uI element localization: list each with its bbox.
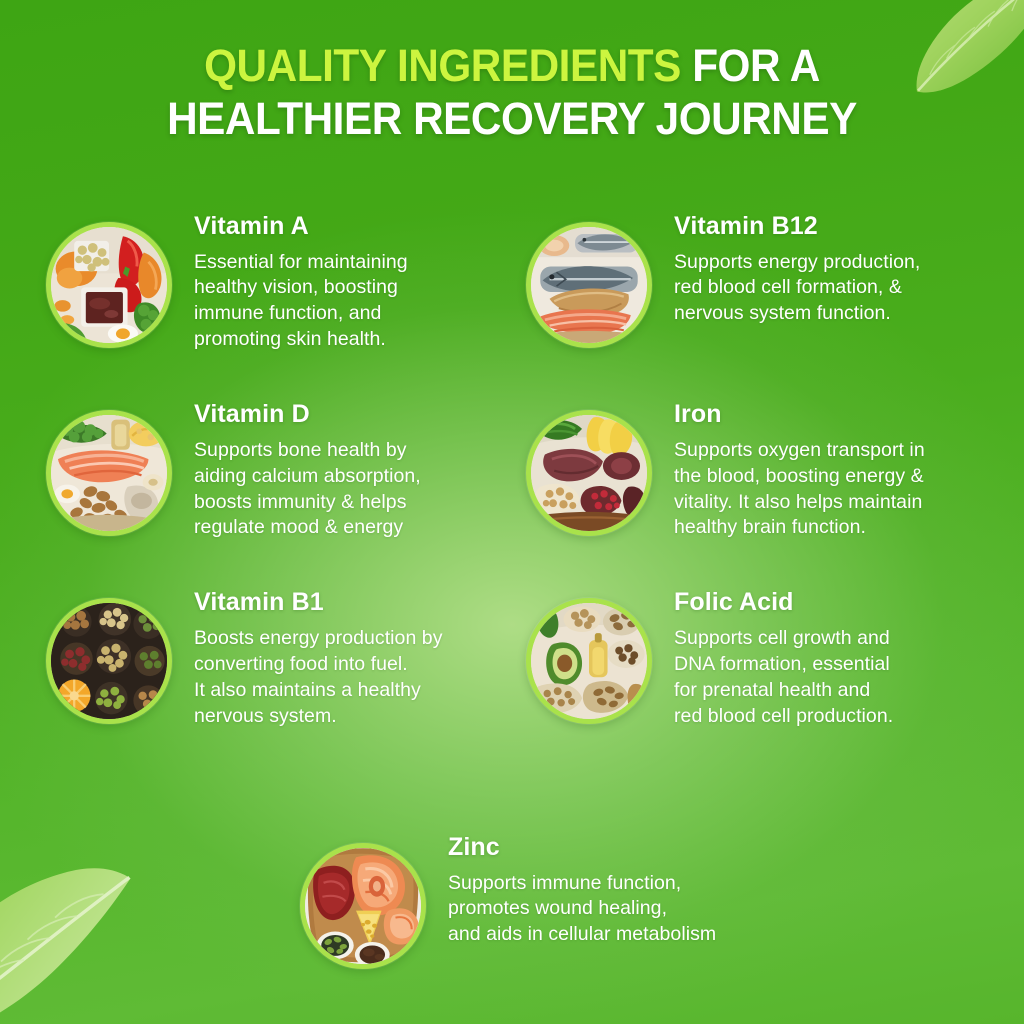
title-line-1-rest: FOR A — [681, 40, 820, 91]
ingredient-thumbnail-vitamin-d — [46, 410, 172, 536]
ingredient-text-zinc: Zinc Supports immune function, promotes … — [426, 826, 716, 948]
ingredient-text-vitamin-d: Vitamin D Supports bone health by aiding… — [172, 393, 421, 541]
ingredient-thumbnail-vitamin-a — [46, 222, 172, 348]
ingredient-description: Supports immune function, promotes wound… — [448, 871, 716, 949]
ingredients-row: Vitamin A Essential for maintaining heal… — [34, 205, 1024, 353]
ingredient-name: Folic Acid — [674, 589, 893, 617]
ingredient-name: Vitamin D — [194, 401, 421, 429]
ingredients-row: Vitamin B1 Boosts energy production by c… — [34, 581, 1024, 729]
ingredient-name: Vitamin B1 — [194, 589, 443, 617]
ingredient-card-vitamin-d[interactable]: Vitamin D Supports bone health by aiding… — [34, 393, 524, 541]
title-line-1: QUALITY INGREDIENTS FOR A — [31, 40, 994, 93]
ingredients-grid: Vitamin A Essential for maintaining heal… — [34, 205, 1024, 730]
ingredient-description: Supports bone health by aiding calcium a… — [194, 438, 421, 542]
title-highlight: QUALITY INGREDIENTS — [204, 40, 681, 91]
ingredient-name: Vitamin A — [194, 213, 408, 241]
ingredient-card-vitamin-b12[interactable]: Vitamin B12 Supports energy production, … — [524, 205, 1024, 353]
ingredient-card-iron[interactable]: Iron Supports oxygen transport in the bl… — [524, 393, 1024, 541]
ingredient-description: Supports energy production, red blood ce… — [674, 250, 920, 328]
ingredient-card-vitamin-a[interactable]: Vitamin A Essential for maintaining heal… — [34, 205, 524, 353]
ingredient-name: Iron — [674, 401, 925, 429]
title-line-2: HEALTHIER RECOVERY JOURNEY — [31, 93, 994, 146]
ingredient-description: Essential for maintaining healthy vision… — [194, 250, 408, 354]
ingredient-text-iron: Iron Supports oxygen transport in the bl… — [652, 393, 925, 541]
ingredients-row: Vitamin D Supports bone health by aiding… — [34, 393, 1024, 541]
ingredient-thumbnail-folic-acid — [526, 598, 652, 724]
ingredient-text-vitamin-a: Vitamin A Essential for maintaining heal… — [172, 205, 408, 353]
ingredient-description: Supports cell growth and DNA formation, … — [674, 626, 893, 730]
ingredient-thumbnail-vitamin-b1 — [46, 598, 172, 724]
ingredient-thumbnail-vitamin-b12 — [526, 222, 652, 348]
ingredient-name: Vitamin B12 — [674, 213, 920, 241]
ingredient-description: Boosts energy production by converting f… — [194, 626, 443, 730]
ingredient-card-vitamin-b1[interactable]: Vitamin B1 Boosts energy production by c… — [34, 581, 524, 729]
page-title: QUALITY INGREDIENTS FOR A HEALTHIER RECO… — [0, 40, 1024, 145]
infographic-poster: QUALITY INGREDIENTS FOR A HEALTHIER RECO… — [0, 0, 1024, 1024]
ingredient-card-folic-acid[interactable]: Folic Acid Supports cell growth and DNA … — [524, 581, 1024, 729]
ingredient-description: Supports oxygen transport in the blood, … — [674, 438, 925, 542]
ingredient-text-vitamin-b1: Vitamin B1 Boosts energy production by c… — [172, 581, 443, 729]
ingredient-text-vitamin-b12: Vitamin B12 Supports energy production, … — [652, 205, 920, 327]
ingredient-thumbnail-zinc — [300, 843, 426, 969]
ingredient-card-zinc[interactable]: Zinc Supports immune function, promotes … — [300, 826, 716, 969]
ingredient-text-folic-acid: Folic Acid Supports cell growth and DNA … — [652, 581, 893, 729]
ingredient-name: Zinc — [448, 834, 716, 862]
ingredient-thumbnail-iron — [526, 410, 652, 536]
leaf-bottom-left-icon — [0, 834, 238, 1024]
